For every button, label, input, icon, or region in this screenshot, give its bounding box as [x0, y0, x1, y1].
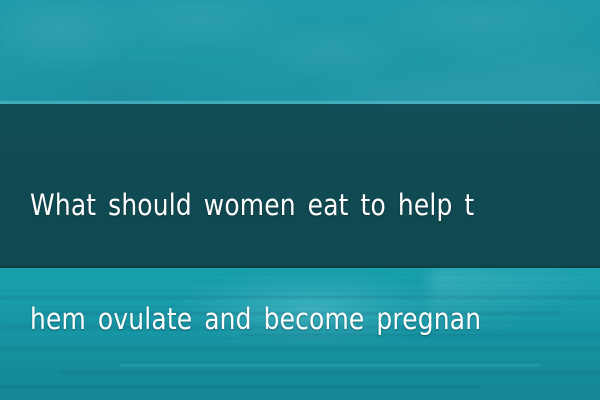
headline-line-1: What should women eat to help t [30, 186, 565, 224]
headline-text: What should women eat to help t hem ovul… [30, 110, 590, 400]
headline-line-2: hem ovulate and become pregnan [30, 300, 565, 338]
slide-canvas: What should women eat to help t hem ovul… [0, 0, 600, 400]
